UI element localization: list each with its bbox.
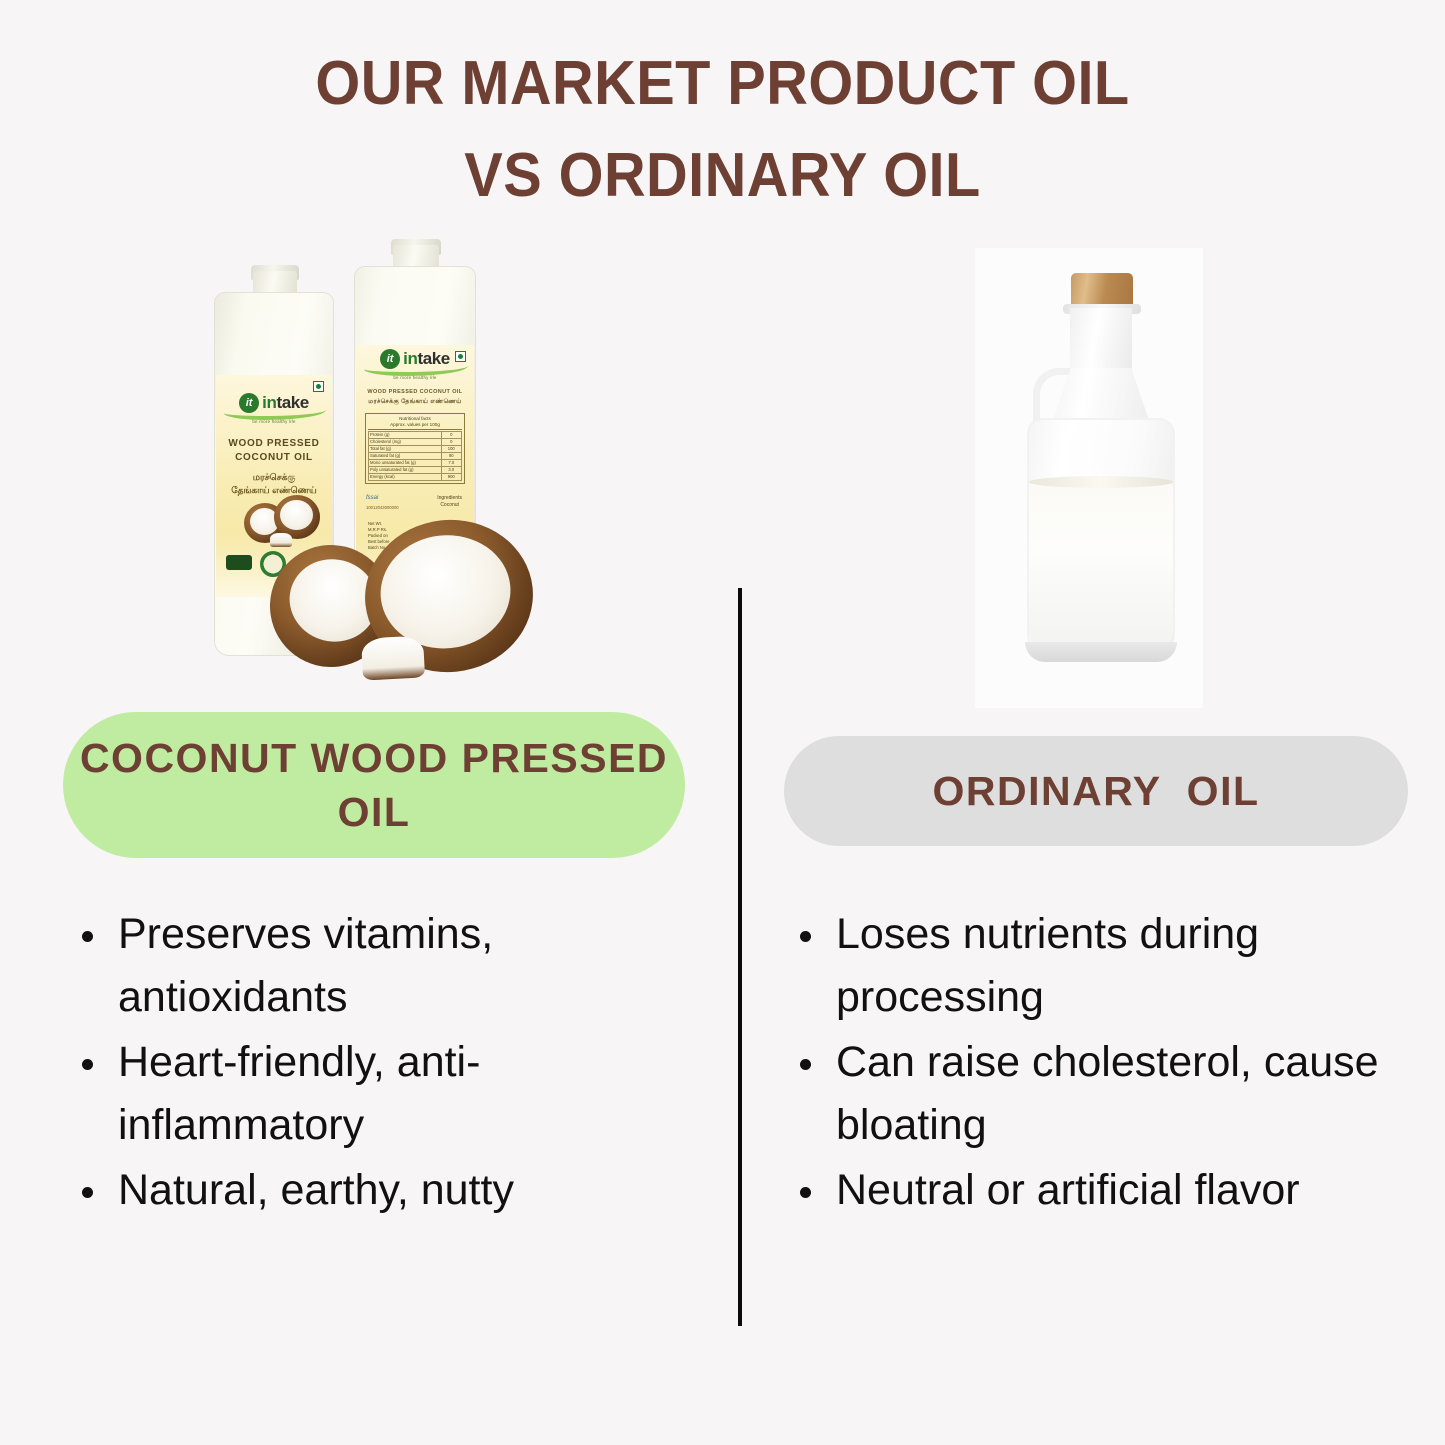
nutrition-label: Cholesterol (mg)	[369, 439, 442, 446]
front-tamil-line-2: தேங்காய் எண்ணெய்	[216, 484, 332, 497]
list-item: Natural, earthy, nutty	[66, 1159, 666, 1222]
nutrition-label: Saturated fat (g)	[369, 453, 442, 460]
label-coconut-flesh-right	[280, 500, 313, 530]
label-coconut-chip	[270, 533, 292, 547]
logo-leaf-swoosh-front	[224, 403, 326, 420]
back-label-product-name: WOOD PRESSED COCONUT OIL	[356, 389, 474, 395]
list-item: Can raise cholesterol, cause bloating	[784, 1031, 1424, 1157]
list-item: Heart-friendly, anti-inflammatory	[66, 1031, 666, 1157]
title-line-2: VS ORDINARY OIL	[51, 130, 1395, 222]
ingredients-block: Ingredients Coconut	[437, 495, 462, 509]
veg-mark-back	[455, 351, 466, 362]
nutrition-label: Protein (g)	[369, 432, 442, 439]
list-item: Loses nutrients during processing	[784, 903, 1424, 1029]
ingredients-title: Ingredients	[437, 495, 462, 502]
fssai-logo-text: fssai	[366, 495, 378, 501]
nutrition-label: Energy (kcal)	[369, 474, 442, 481]
right-category-pill: ORDINARY OIL	[784, 736, 1408, 846]
nutrition-value: 900	[441, 474, 461, 481]
clear-oil-fill	[1029, 480, 1173, 656]
nutrition-value: 3.0	[441, 467, 461, 474]
ingredients-value: Coconut	[437, 502, 462, 509]
nutrition-table: Protein (g)0 Cholesterol (mg)0 Total fat…	[368, 431, 462, 481]
left-category-label: COCONUT WOOD PRESSED OIL	[63, 731, 685, 839]
fssai-license-number: 10012043000000	[366, 505, 399, 511]
nutrition-title: Nutritional facts Approx. values per 100…	[368, 416, 462, 430]
front-product-name-line-2: COCONUT OIL	[216, 451, 332, 465]
nutrition-row: Total fat (g)100	[369, 446, 462, 453]
coconut-oil-product-photo: it intake be more healthy life WOOD PRES…	[150, 245, 600, 690]
nutrition-value: 7.0	[441, 460, 461, 467]
title-line-1: OUR MARKET PRODUCT OIL	[51, 38, 1395, 130]
left-benefits-list: Preserves vitamins, antioxidants Heart-f…	[66, 903, 666, 1224]
nutrition-label: Total fat (g)	[369, 446, 442, 453]
front-tamil-line-1: மரச்செக்கு	[216, 471, 332, 484]
nutrition-row: Mono unsaturated fat (g)7.0	[369, 460, 462, 467]
coconut-chip	[361, 635, 425, 680]
nutrition-value: 0	[441, 439, 461, 446]
list-item: Preserves vitamins, antioxidants	[66, 903, 666, 1029]
bottle-base	[1025, 642, 1177, 662]
list-item: Neutral or artificial flavor	[784, 1159, 1424, 1222]
nutrition-row: Poly unsaturated fat (g)3.0	[369, 467, 462, 474]
logo-leaf-swoosh-back	[364, 359, 468, 376]
nutrition-row: Energy (kcal)900	[369, 474, 462, 481]
nutrition-row: Protein (g)0	[369, 432, 462, 439]
veg-mark-front	[313, 381, 324, 392]
nutrition-value: 90	[441, 453, 461, 460]
nutrition-label: Mono unsaturated fat (g)	[369, 460, 442, 467]
nutrition-facts-box: Nutritional facts Approx. values per 100…	[365, 413, 465, 484]
right-drawbacks-list: Loses nutrients during processing Can ra…	[784, 903, 1424, 1224]
infographic-canvas: OUR MARKET PRODUCT OIL VS ORDINARY OIL i…	[0, 0, 1445, 1445]
back-label-tamil-name: மரச்செக்கு தேங்காய் எண்ணெய்	[356, 399, 474, 406]
nutrition-label: Poly unsaturated fat (g)	[369, 467, 442, 474]
nutrition-row: Saturated fat (g)90	[369, 453, 462, 460]
vertical-divider	[738, 588, 742, 1326]
certification-badge-dark	[226, 555, 252, 570]
nutrition-title-line-2: Approx. values per 100g	[368, 422, 462, 428]
front-product-name-line-1: WOOD PRESSED	[216, 437, 332, 451]
logo-tagline-front: be more healthy life	[216, 419, 332, 424]
nutrition-value: 100	[441, 446, 461, 453]
nutrition-row: Cholesterol (mg)0	[369, 439, 462, 446]
left-category-pill: COCONUT WOOD PRESSED OIL	[63, 712, 685, 858]
nutrition-value: 0	[441, 432, 461, 439]
ordinary-oil-product-photo	[975, 248, 1203, 708]
oil-surface-line	[1029, 476, 1173, 488]
logo-tagline-back: be more healthy life	[356, 375, 474, 380]
right-category-label: ORDINARY OIL	[932, 766, 1259, 816]
page-title: OUR MARKET PRODUCT OIL VS ORDINARY OIL	[0, 38, 1445, 222]
